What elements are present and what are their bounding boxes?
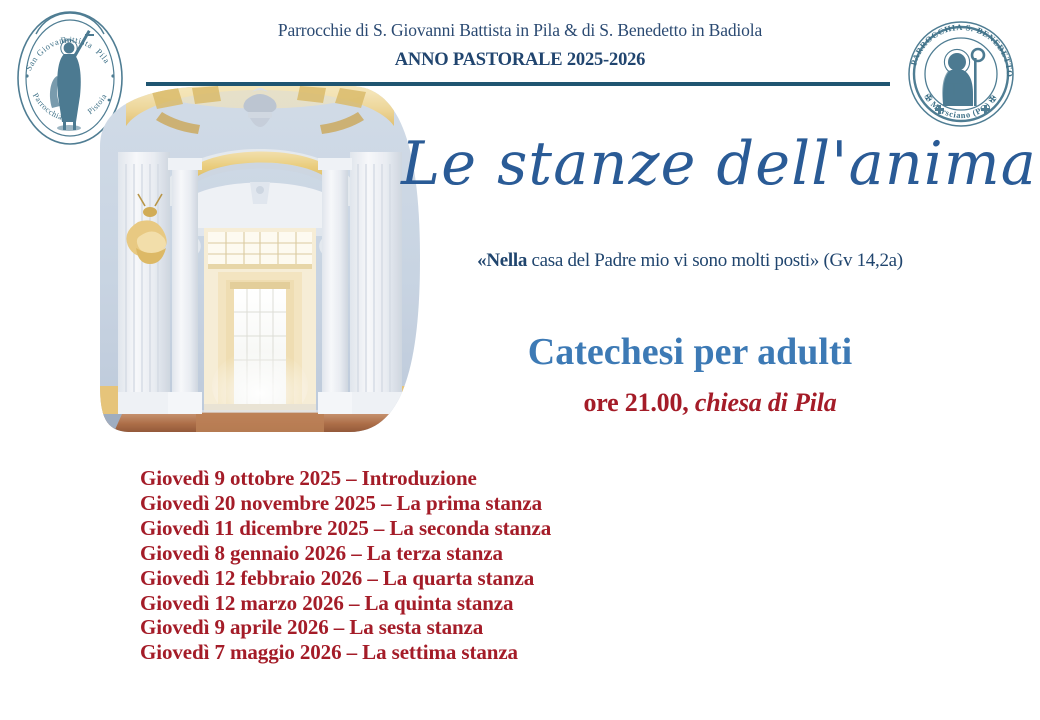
svg-text:✠ Marsciano (PG) ✠: ✠ Marsciano (PG) ✠	[922, 92, 999, 120]
schedule-row: Giovedì 12 febbraio 2026 – La quarta sta…	[140, 566, 840, 591]
scripture-quote: «Nella casa del Padre mio vi sono molti …	[380, 250, 1000, 272]
parish-line: Parrocchie di S. Giovanni Battista in Pi…	[0, 20, 1040, 41]
schedule-row: Giovedì 11 dicembre 2025 – La seconda st…	[140, 516, 840, 541]
quote-rest: casa del Padre mio vi sono molti posti» …	[527, 250, 903, 271]
svg-text:Pistoia: Pistoia	[86, 92, 109, 116]
schedule-list: Giovedì 9 ottobre 2025 – Introduzione Gi…	[140, 466, 840, 665]
catechesis-heading: Catechesi per adulti	[400, 330, 980, 374]
poster-header: Parrocchie di S. Giovanni Battista in Pi…	[0, 20, 1040, 71]
pastoral-year-line: ANNO PASTORALE 2025-2026	[0, 49, 1040, 71]
schedule-row: Giovedì 9 ottobre 2025 – Introduzione	[140, 466, 840, 491]
schedule-row: Giovedì 20 novembre 2025 – La prima stan…	[140, 491, 840, 516]
schedule-row: Giovedì 9 aprile 2026 – La sesta stanza	[140, 615, 840, 640]
time-and-venue: ore 21.00, chiesa di Pila	[430, 388, 990, 418]
schedule-row: Giovedì 12 marzo 2026 – La quinta stanza	[140, 591, 840, 616]
seal-left-arc-text-bottom: Parrocchia di	[31, 91, 72, 122]
schedule-row: Giovedì 7 maggio 2026 – La settima stanz…	[140, 640, 840, 665]
svg-text:Parrocchia di: Parrocchia di	[31, 91, 72, 122]
page-title: Le stanze dell'anima	[401, 134, 989, 194]
schedule-row: Giovedì 8 gennaio 2026 – La terza stanza	[140, 541, 840, 566]
header-divider-rule	[146, 82, 890, 86]
baroque-palace-enfilade-photo	[100, 86, 420, 432]
event-time: ore 21.00,	[583, 388, 688, 417]
event-venue: chiesa di Pila	[689, 388, 837, 417]
quote-emphasis: «Nella	[477, 250, 527, 271]
seal-right-arc-text-bottom: ✠ Marsciano (PG) ✠	[922, 92, 999, 120]
seal-left-arc-text-bottom-right: Pistoia	[86, 92, 109, 116]
